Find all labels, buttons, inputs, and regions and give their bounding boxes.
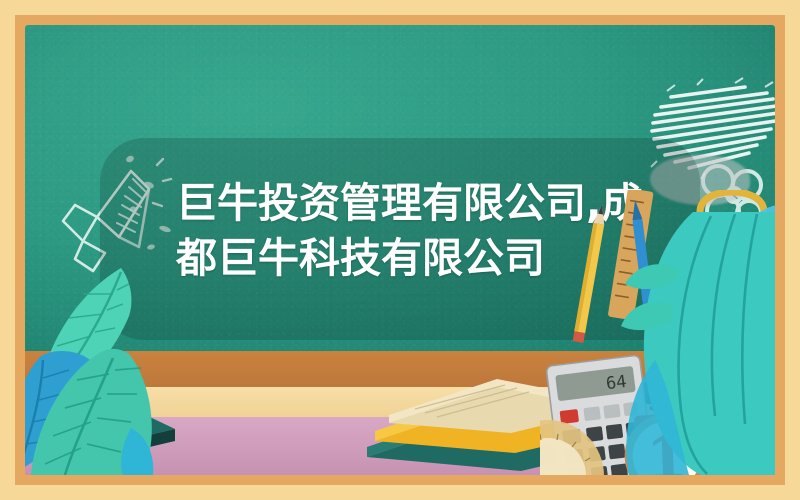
foliage xyxy=(615,210,775,475)
banner-image: 巨牛投资管理有限公司,成都巨牛科技有限公司 xyxy=(0,0,800,500)
foliage xyxy=(25,260,255,475)
